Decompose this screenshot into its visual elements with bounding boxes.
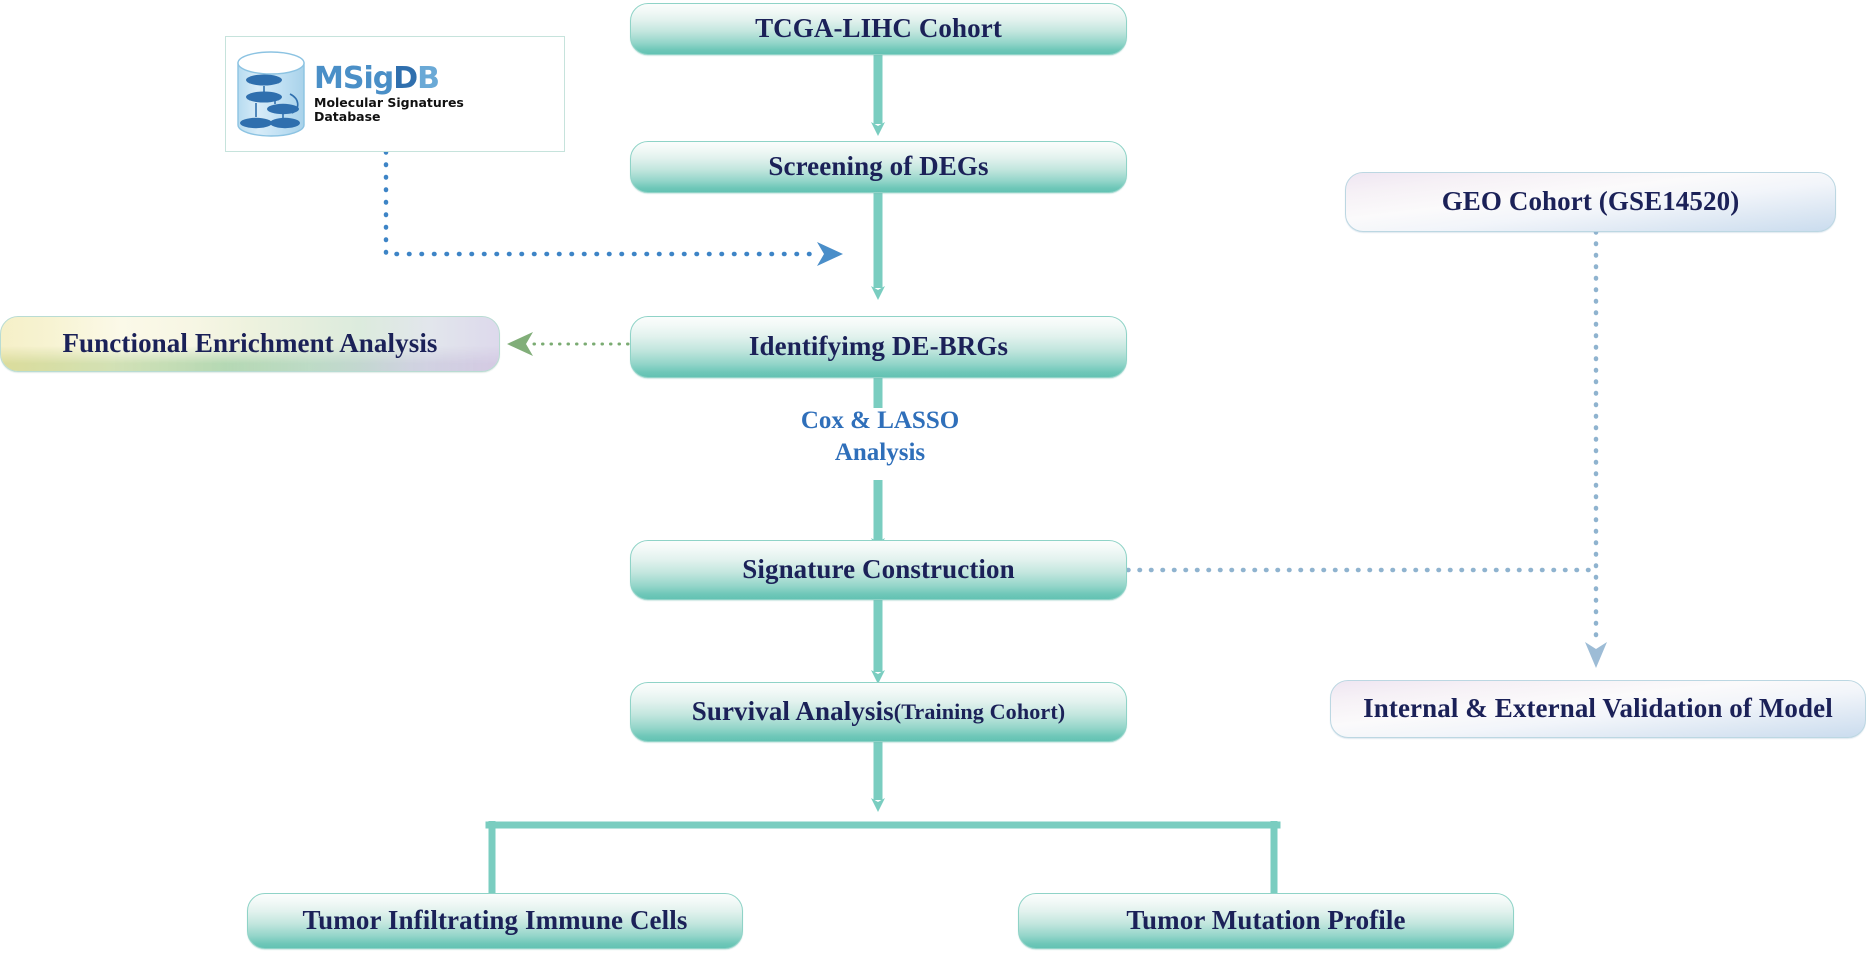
node-survival-analysis[interactable]: Survival Analysis (Training Cohort) <box>630 682 1127 742</box>
node-tcga-lihc-cohort-label: TCGA-LIHC Cohort <box>755 14 1002 44</box>
edge-label-cox-lasso-line1: Cox & LASSO <box>800 405 960 437</box>
node-survival-analysis-sublabel: (Training Cohort) <box>894 700 1066 724</box>
database-cylinder-icon <box>234 51 308 137</box>
edge-geo-and-signature-to-validation <box>1128 232 1596 645</box>
msigdb-subtitle: Molecular Signatures Database <box>314 96 464 124</box>
node-geo-cohort[interactable]: GEO Cohort (GSE14520) <box>1345 172 1836 232</box>
edge-label-cox-lasso: Cox & LASSO Analysis <box>800 405 960 469</box>
node-tumor-infiltrating-immune-cells[interactable]: Tumor Infiltrating Immune Cells <box>247 893 743 949</box>
node-internal-external-validation-label: Internal & External Validation of Model <box>1363 694 1833 724</box>
edge-label-cox-lasso-line2: Analysis <box>800 437 960 469</box>
node-internal-external-validation[interactable]: Internal & External Validation of Model <box>1330 680 1866 738</box>
node-tumor-mutation-profile[interactable]: Tumor Mutation Profile <box>1018 893 1514 949</box>
node-functional-enrichment-analysis[interactable]: Functional Enrichment Analysis <box>0 316 500 372</box>
msigdb-subtitle-line2: Database <box>314 109 381 124</box>
msigdb-brand: MSigDB <box>314 64 464 94</box>
flowchart-canvas: MSigDB Molecular Signatures Database TCG… <box>0 0 1866 959</box>
node-tcga-lihc-cohort[interactable]: TCGA-LIHC Cohort <box>630 3 1127 55</box>
node-screening-of-degs-label: Screening of DEGs <box>768 152 988 182</box>
node-identifying-de-brgs[interactable]: Identifyimg DE-BRGs <box>630 316 1127 378</box>
msigdb-logo: MSigDB Molecular Signatures Database <box>225 36 565 152</box>
node-functional-enrichment-analysis-label: Functional Enrichment Analysis <box>62 329 437 359</box>
node-signature-construction-label: Signature Construction <box>742 555 1014 585</box>
node-screening-of-degs[interactable]: Screening of DEGs <box>630 141 1127 193</box>
node-geo-cohort-label: GEO Cohort (GSE14520) <box>1442 187 1740 217</box>
node-tumor-mutation-profile-label: Tumor Mutation Profile <box>1126 906 1405 936</box>
msigdb-brand-part3: B <box>417 61 439 96</box>
node-identifying-de-brgs-label: Identifyimg DE-BRGs <box>749 332 1008 362</box>
msigdb-brand-part2: D <box>393 61 417 96</box>
msigdb-subtitle-line1: Molecular Signatures <box>314 95 464 110</box>
node-tumor-infiltrating-immune-cells-label: Tumor Infiltrating Immune Cells <box>303 906 688 936</box>
node-survival-analysis-label: Survival Analysis <box>692 697 894 727</box>
msigdb-brand-part1: MSig <box>314 61 393 96</box>
msigdb-logo-text: MSigDB Molecular Signatures Database <box>314 64 464 124</box>
edge-survival-split <box>489 742 1277 893</box>
node-signature-construction[interactable]: Signature Construction <box>630 540 1127 600</box>
